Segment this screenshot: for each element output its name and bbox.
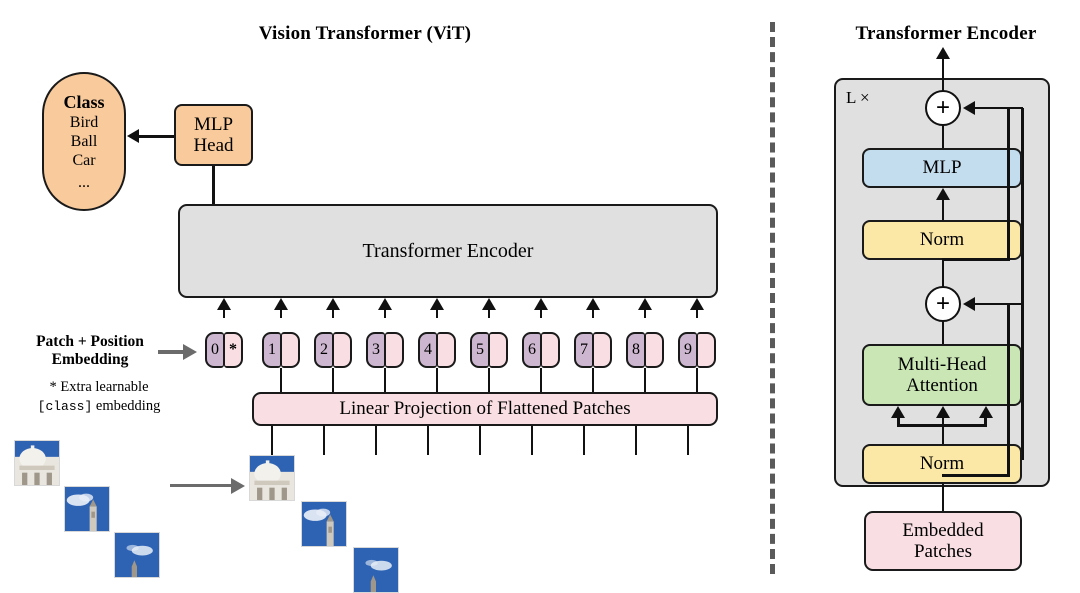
embedding-caption-line1: Patch + Position <box>10 333 170 351</box>
sequence-patch-0 <box>249 455 295 501</box>
token-0: 0* <box>205 332 243 368</box>
source-to-sequence-line <box>170 484 232 487</box>
token-stem-5 <box>488 368 491 392</box>
token-patch-embedding-1 <box>281 332 300 368</box>
token-arrow-head-0 <box>217 298 231 310</box>
token-arrow-head-2 <box>326 298 340 310</box>
token-stem-1 <box>280 368 283 392</box>
linear-projection-box: Linear Projection of Flattened Patches <box>252 392 718 426</box>
embedded-patches-to-norm-line <box>942 484 945 512</box>
mlp-head-box: MLP Head <box>174 104 253 166</box>
repeat-count-label: L × <box>846 88 870 108</box>
token-2: 2 <box>314 332 352 368</box>
token-position-8: 8 <box>626 332 645 368</box>
source-patch-r0-c1 <box>64 486 110 532</box>
qkv-arrowhead-k <box>936 406 950 418</box>
caption-to-tokens-line <box>158 350 184 354</box>
projection-stem-6 <box>583 426 586 455</box>
residual-bottom-arrowhead <box>963 297 975 311</box>
class-item-bird: Bird <box>70 114 98 133</box>
multi-head-attention-block: Multi-Head Attention <box>862 344 1022 406</box>
token-7: 7 <box>574 332 612 368</box>
qkv-fork-stem-k <box>942 418 945 446</box>
attention-to-add-bottom-line <box>942 320 945 346</box>
projection-stem-1 <box>323 426 326 455</box>
token-4: 4 <box>418 332 456 368</box>
token-position-7: 7 <box>574 332 593 368</box>
token-arrow-head-9 <box>690 298 704 310</box>
token-position-4: 4 <box>418 332 437 368</box>
extra-learnable-note-line1: * Extra learnable <box>14 378 184 397</box>
source-patch-r0-c0 <box>14 440 60 486</box>
token-1: 1 <box>262 332 300 368</box>
norm-top-label: Norm <box>920 229 964 250</box>
token-patch-embedding-9 <box>697 332 716 368</box>
token-5: 5 <box>470 332 508 368</box>
qkv-fork-stem-v <box>984 418 987 426</box>
add-top-to-output-line <box>942 78 945 92</box>
linear-projection-label: Linear Projection of Flattened Patches <box>339 398 630 419</box>
class-token-code: [class] <box>38 399 93 414</box>
residual-top-tap-vertical <box>1007 108 1010 260</box>
token-position-5: 5 <box>470 332 489 368</box>
token-8: 8 <box>626 332 664 368</box>
mlp-head-to-class-line <box>138 135 175 138</box>
extra-learnable-note-line2: [class] embedding <box>14 397 184 416</box>
panel-divider <box>770 22 775 574</box>
token-patch-embedding-2 <box>333 332 352 368</box>
left-transformer-encoder-box: Transformer Encoder <box>178 204 718 298</box>
token-position-2: 2 <box>314 332 333 368</box>
qkv-fork-stem-q <box>897 418 900 426</box>
encoder-to-mlp-head-line <box>212 166 215 206</box>
token-6: 6 <box>522 332 560 368</box>
residual-top-tap-horizontal <box>942 258 1010 261</box>
token-position-6: 6 <box>522 332 541 368</box>
embedded-patches-label-line1: Embedded <box>902 520 983 541</box>
source-patch-r0-c2 <box>114 532 160 578</box>
add-bottom-to-norm-top-line <box>942 260 945 288</box>
token-stem-7 <box>592 368 595 392</box>
class-token-asterisk: * <box>224 332 243 368</box>
token-position-0: 0 <box>205 332 224 368</box>
class-item-car: Car <box>72 152 95 171</box>
projection-stem-5 <box>531 426 534 455</box>
token-arrow-head-1 <box>274 298 288 310</box>
token-arrow-head-6 <box>534 298 548 310</box>
mlp-head-to-class-arrowhead <box>127 129 139 143</box>
encoder-output-arrowhead <box>936 47 950 59</box>
norm-top-to-mlp-line <box>942 199 945 222</box>
token-patch-embedding-6 <box>541 332 560 368</box>
right-panel-title: Transformer Encoder <box>828 23 1064 45</box>
attention-label-line2: Attention <box>906 375 978 396</box>
token-patch-embedding-5 <box>489 332 508 368</box>
token-patch-embedding-7 <box>593 332 612 368</box>
token-stem-8 <box>644 368 647 392</box>
class-output-box: Class Bird Ball Car ... <box>42 72 126 211</box>
residual-bottom-tap-join <box>975 303 1009 306</box>
norm-top-block: Norm <box>862 220 1022 260</box>
norm-bottom-label: Norm <box>920 453 964 474</box>
token-arrow-head-3 <box>378 298 392 310</box>
class-item-ball: Ball <box>71 133 98 152</box>
token-arrow-head-7 <box>586 298 600 310</box>
class-item-ellipsis: ... <box>78 175 90 191</box>
token-arrow-head-8 <box>638 298 652 310</box>
residual-add-bottom: + <box>925 286 961 322</box>
projection-stem-4 <box>479 426 482 455</box>
attention-label-line1: Multi-Head <box>898 354 987 375</box>
left-panel-title: Vision Transformer (ViT) <box>185 23 545 45</box>
projection-stem-7 <box>635 426 638 455</box>
source-to-sequence-arrowhead <box>231 478 245 494</box>
vit-architecture-figure: Vision Transformer (ViT) Class Bird Ball… <box>0 0 1080 593</box>
token-3: 3 <box>366 332 404 368</box>
token-patch-embedding-4 <box>437 332 456 368</box>
token-arrow-head-5 <box>482 298 496 310</box>
projection-stem-2 <box>375 426 378 455</box>
left-transformer-encoder-label: Transformer Encoder <box>363 240 534 262</box>
residual-bottom-tap-horizontal <box>942 474 1010 477</box>
caption-to-tokens-arrowhead <box>183 344 197 360</box>
token-stem-2 <box>332 368 335 392</box>
token-patch-embedding-8 <box>645 332 664 368</box>
qkv-arrowhead-v <box>979 406 993 418</box>
extra-learnable-note: * Extra learnable [class] embedding <box>14 378 184 416</box>
token-stem-4 <box>436 368 439 392</box>
qkv-arrowhead-q <box>891 406 905 418</box>
mlp-block: MLP <box>862 148 1022 188</box>
sequence-patch-2 <box>353 547 399 593</box>
token-stem-3 <box>384 368 387 392</box>
projection-stem-8 <box>687 426 690 455</box>
token-position-1: 1 <box>262 332 281 368</box>
token-9: 9 <box>678 332 716 368</box>
mlp-block-label: MLP <box>922 157 961 178</box>
class-box-title: Class <box>63 92 104 113</box>
mlp-to-add-top-line <box>942 124 945 150</box>
projection-stem-3 <box>427 426 430 455</box>
norm-top-to-mlp-arrowhead <box>936 188 950 200</box>
embedding-caption: Patch + Position Embedding <box>10 333 170 368</box>
residual-bottom-tap-vertical <box>1007 304 1010 476</box>
norm-bottom-block: Norm <box>862 444 1022 484</box>
mlp-head-label-line1: MLP <box>194 114 233 135</box>
residual-top-tap-join <box>975 107 1009 110</box>
residual-top-arrowhead <box>963 101 975 115</box>
token-stem-9 <box>696 368 699 392</box>
embedding-caption-line2: Embedding <box>10 351 170 369</box>
source-image-patch-grid <box>14 440 164 592</box>
embedded-patches-label-line2: Patches <box>914 541 972 562</box>
token-stem-6 <box>540 368 543 392</box>
projection-stem-0 <box>271 426 274 455</box>
mlp-head-label-line2: Head <box>193 135 233 156</box>
extra-learnable-note-suffix: embedding <box>92 398 160 414</box>
token-position-9: 9 <box>678 332 697 368</box>
token-patch-embedding-3 <box>385 332 404 368</box>
token-position-3: 3 <box>366 332 385 368</box>
token-arrow-head-4 <box>430 298 444 310</box>
sequence-patch-1 <box>301 501 347 547</box>
embedded-patches-block: Embedded Patches <box>864 511 1022 571</box>
residual-add-top: + <box>925 90 961 126</box>
